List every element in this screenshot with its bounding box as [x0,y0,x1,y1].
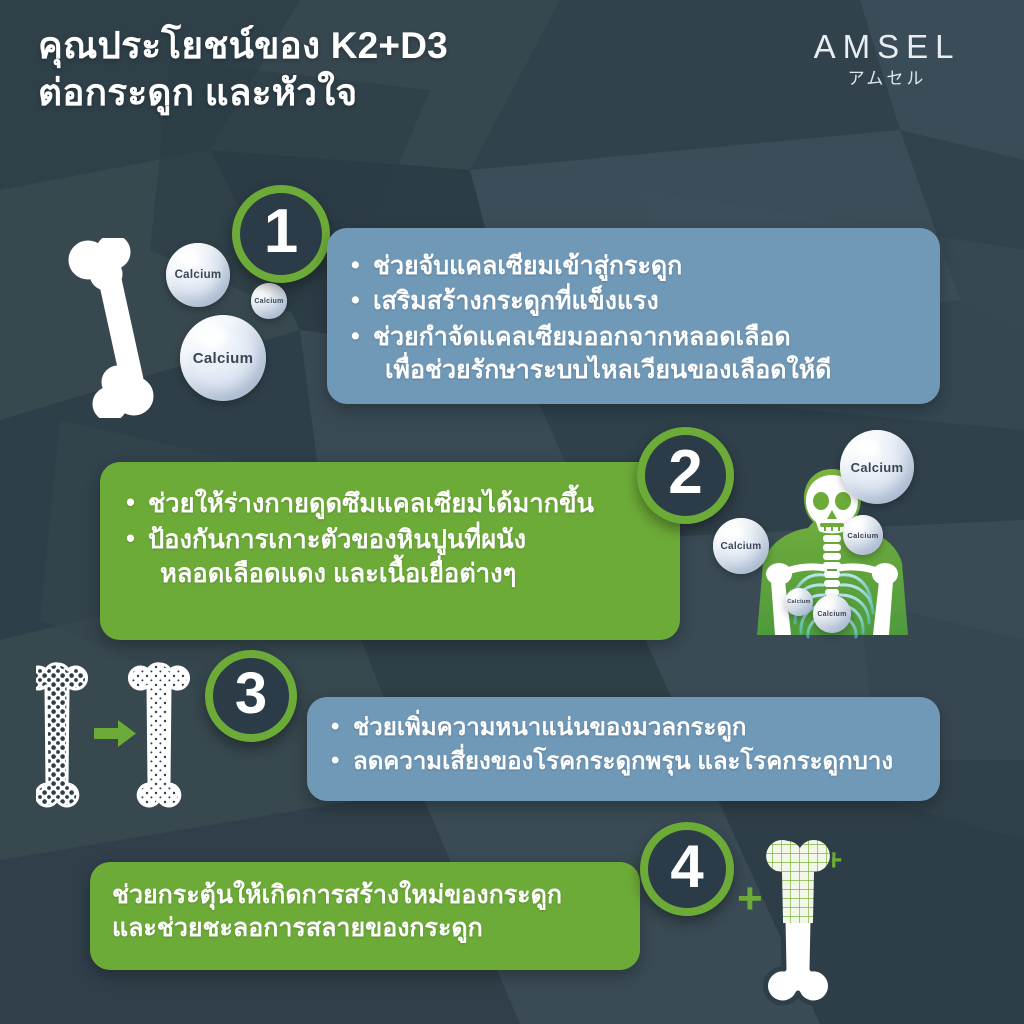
list-item: ช่วยให้ร่างกายดูดซึมแคลเซียมได้มากขึ้น [122,488,660,522]
benefit-card-4: ช่วยกระตุ้นให้เกิดการสร้างใหม่ของกระดูก … [90,862,640,970]
benefit-list-1: ช่วยจับแคลเซียมเข้าสู่กระดูก เสริมสร้างก… [347,250,920,387]
calcium-bubble-label: Calcium [720,541,761,552]
calcium-bubble: Calcium [166,243,230,307]
bone-density-comparison [36,660,216,810]
calcium-bubble: Calcium [840,430,914,504]
step-number-badge-1: 1 [232,185,330,283]
logo-wordmark: AMSEL [792,28,982,66]
step-number-1: 1 [264,196,298,267]
bone-mesh-icon [745,835,855,1010]
benefit-card-1: ช่วยจับแคลเซียมเข้าสู่กระดูก เสริมสร้างก… [327,228,940,404]
bullet-text: ช่วยเพิ่มความหนาแน่นของมวลกระดูก [353,714,746,741]
bullet-continuation: เพื่อช่วยรักษาระบบไหลเวียนของเลือดให้ดี [373,354,920,387]
list-item: ช่วยจับแคลเซียมเข้าสู่กระดูก [347,250,920,283]
calcium-bubble: Calcium [180,315,266,401]
bullet-text: เสริมสร้างกระดูกที่แข็งแรง [373,287,659,315]
logo-kana: アムセル [792,64,982,89]
calcium-bubble: Calcium [843,515,883,555]
benefit-list-2: ช่วยให้ร่างกายดูดซึมแคลเซียมได้มากขึ้น ป… [122,488,660,592]
benefit-card-2: ช่วยให้ร่างกายดูดซึมแคลเซียมได้มากขึ้น ป… [100,462,680,640]
calcium-bubble-label: Calcium [851,460,904,475]
title-line-2: ต่อกระดูก และหัวใจ [38,69,678,116]
step-number-badge-4: 4 [640,822,734,916]
bullet-text: ลดความเสี่ยงของโรคกระดูกพรุน และโรคกระดู… [353,748,893,775]
benefit-card-3: ช่วยเพิ่มความหนาแน่นของมวลกระดูก ลดความเ… [307,697,940,801]
step-number-3: 3 [235,660,267,727]
list-item: เสริมสร้างกระดูกที่แข็งแรง [347,285,920,318]
calcium-bubble-label: Calcium [787,599,811,605]
calcium-bubble-label: Calcium [817,611,846,618]
calcium-bubble: Calcium [251,283,287,319]
bullet-continuation: หลอดเลือดแดง และเนื้อเยื่อต่างๆ [148,558,660,592]
list-item: ช่วยเพิ่มความหนาแน่นของมวลกระดูก [327,712,922,744]
page-title: คุณประโยชน์ของ K2+D3 ต่อกระดูก และหัวใจ [38,22,678,117]
calcium-bubble-label: Calcium [175,269,222,281]
step-number-badge-3: 3 [205,650,297,742]
calcium-bubble-label: Calcium [254,298,283,305]
step-number-4: 4 [670,832,703,901]
step-number-badge-2: 2 [637,427,734,524]
list-item: ลดความเสี่ยงของโรคกระดูกพรุน และโรคกระดู… [327,746,922,778]
bullet-text: ป้องกันการเกาะตัวของหินปูนที่ผนัง [148,526,526,554]
bullet-text: ช่วยจับแคลเซียมเข้าสู่กระดูก [373,252,682,280]
card4-line-2: และช่วยชะลอการสลายของกระดูก [112,912,622,945]
calcium-bubble: Calcium [813,595,851,633]
bullet-text: ช่วยให้ร่างกายดูดซึมแคลเซียมได้มากขึ้น [148,490,594,518]
calcium-bubble: Calcium [713,518,769,574]
calcium-bubble-label: Calcium [847,531,878,540]
card4-line-1: ช่วยกระตุ้นให้เกิดการสร้างใหม่ของกระดูก [112,879,622,912]
calcium-bubble-label: Calcium [193,350,253,367]
list-item: ช่วยกำจัดแคลเซียมออกจากหลอดเลือด เพื่อช่… [347,321,920,388]
brand-logo: AMSEL アムセル [792,28,982,89]
benefit-list-3: ช่วยเพิ่มความหนาแน่นของมวลกระดูก ลดความเ… [327,712,922,778]
title-line-1: คุณประโยชน์ของ K2+D3 [38,25,448,66]
step-number-2: 2 [668,437,702,508]
bullet-text: ช่วยกำจัดแคลเซียมออกจากหลอดเลือด [373,323,791,351]
list-item: ป้องกันการเกาะตัวของหินปูนที่ผนัง หลอดเล… [122,524,660,592]
bone-icon [66,238,176,418]
calcium-bubble: Calcium [785,588,813,616]
infographic-canvas: คุณประโยชน์ของ K2+D3 ต่อกระดูก และหัวใจ … [0,0,1024,1024]
